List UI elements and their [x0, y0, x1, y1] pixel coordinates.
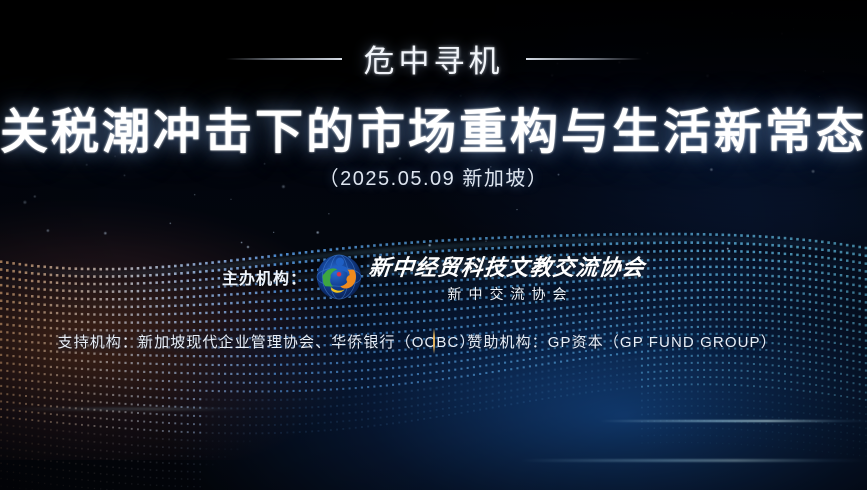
association-globe-people-icon — [316, 254, 362, 300]
organizer-name-full: 新中经贸科技文教交流协会 — [367, 250, 646, 282]
support-organizations: 支持机构：新加坡现代企业管理协会、华侨银行（OCBC） — [58, 331, 433, 352]
conference-poster: 危中寻机 关税潮冲击下的市场重构与生活新常态 （2025.05.09 新加坡） … — [0, 0, 867, 490]
organizer-logo-block: 新中经贸科技文教交流协会 新中交流协会 — [316, 250, 645, 304]
partner-row: 支持机构：新加坡现代企业管理协会、华侨银行（OCBC） 赞助机构：GP资本（GP… — [0, 328, 867, 354]
sponsor-organizations: 赞助机构：GP资本（GP FUND GROUP） — [435, 331, 810, 352]
organizer-name-short: 新中交流协会 — [441, 284, 574, 304]
eyebrow-rule-left — [226, 58, 342, 60]
eyebrow-rule-right — [526, 58, 642, 60]
organizer-names: 新中经贸科技文教交流协会 新中交流协会 — [369, 250, 645, 304]
organizer-label: 主办机构： — [222, 265, 307, 289]
eyebrow-row: 危中寻机 — [0, 36, 867, 81]
poster-date-location: （2025.05.09 新加坡） — [0, 162, 867, 191]
eyebrow-text: 危中寻机 — [364, 36, 504, 81]
poster-title: 关税潮冲击下的市场重构与生活新常态 — [0, 92, 867, 162]
organizer-row: 主办机构： — [0, 250, 867, 304]
